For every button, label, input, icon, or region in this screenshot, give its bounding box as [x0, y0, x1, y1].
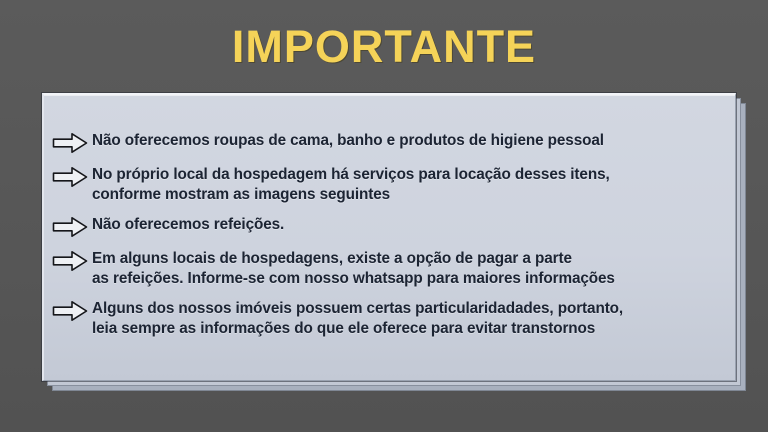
right-arrow-icon [52, 132, 88, 154]
list-item-text: Em alguns locais de hospedagens, existe … [92, 249, 730, 288]
page-title: IMPORTANTE [0, 22, 768, 72]
list-item: No próprio local da hospedagem há serviç… [52, 165, 730, 204]
bullet-list: Não oferecemos roupas de cama, banho e p… [52, 131, 730, 338]
list-item-text: Não oferecemos refeições. [92, 215, 730, 234]
right-arrow-icon [52, 300, 88, 322]
list-item-line: Não oferecemos refeições. [92, 215, 730, 234]
list-item-line: Não oferecemos roupas de cama, banho e p… [92, 131, 730, 150]
list-item-line: conforme mostram as imagens seguintes [92, 185, 730, 204]
content-card-stack: Não oferecemos roupas de cama, banho e p… [42, 93, 736, 381]
list-item: Não oferecemos roupas de cama, banho e p… [52, 131, 730, 154]
right-arrow-icon [52, 250, 88, 272]
content-panel: Não oferecemos roupas de cama, banho e p… [42, 93, 736, 381]
list-item: Em alguns locais de hospedagens, existe … [52, 249, 730, 288]
list-item-text: Alguns dos nossos imóveis possuem certas… [92, 299, 730, 338]
list-item-text: No próprio local da hospedagem há serviç… [92, 165, 730, 204]
list-item-text: Não oferecemos roupas de cama, banho e p… [92, 131, 730, 150]
list-item-line: as refeições. Informe-se com nosso whats… [92, 269, 730, 288]
list-item-line: Alguns dos nossos imóveis possuem certas… [92, 299, 730, 318]
list-item: Não oferecemos refeições. [52, 215, 730, 238]
list-item-line: leia sempre as informações do que ele of… [92, 319, 730, 338]
right-arrow-icon [52, 166, 88, 188]
list-item-line: Em alguns locais de hospedagens, existe … [92, 249, 730, 268]
right-arrow-icon [52, 216, 88, 238]
slide-canvas: IMPORTANTE Não oferecemos roupas de cama… [0, 0, 768, 432]
list-item: Alguns dos nossos imóveis possuem certas… [52, 299, 730, 338]
list-item-line: No próprio local da hospedagem há serviç… [92, 165, 730, 184]
